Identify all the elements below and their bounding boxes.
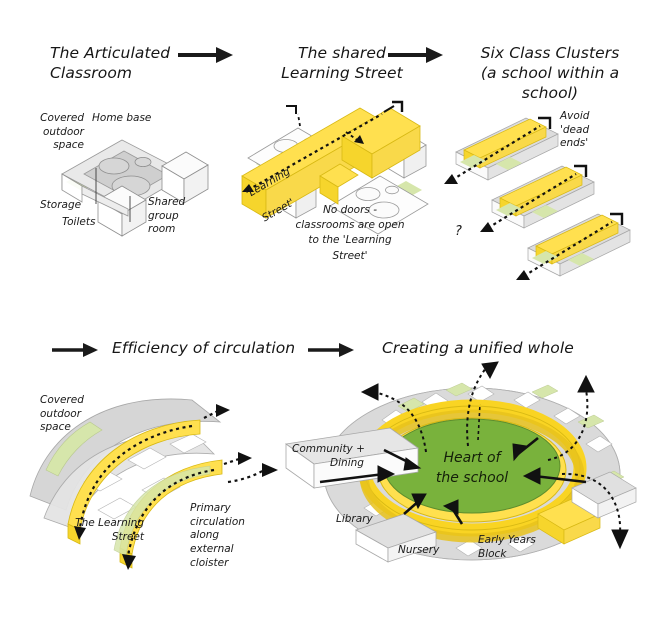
label-question-mark: ? xyxy=(455,224,462,241)
label-line: Community + xyxy=(292,442,402,456)
label-line: ends' xyxy=(560,137,630,151)
caption-line: No doors - xyxy=(276,203,424,218)
label-community-dining: Community + Dining xyxy=(292,442,402,470)
arrow-5-icon xyxy=(308,340,360,360)
label-line: Dining xyxy=(292,456,402,470)
label-line: circulation xyxy=(190,516,270,530)
label-nursery: Nursery xyxy=(398,544,458,558)
caption-no-doors: No doors - classrooms are open to the 'L… xyxy=(276,203,424,264)
arrow-1-2-icon xyxy=(178,44,238,66)
label-line: external xyxy=(190,543,270,557)
label-line: outdoor xyxy=(40,408,116,422)
label-the-learning-street: The Learning Street xyxy=(38,517,144,544)
label-early-years-block: Early Years Block xyxy=(478,534,558,561)
label-line: 'dead xyxy=(560,124,630,138)
panel-5-heading-line-1: Creating a unified whole xyxy=(382,339,632,359)
label-line: Toilets xyxy=(62,216,122,230)
label-line: group xyxy=(148,210,206,224)
heart-text-line-2: the school xyxy=(436,470,508,486)
label-line: Block xyxy=(478,548,558,562)
label-line: Shared xyxy=(148,196,206,210)
panel-3-heading-line-3: school) xyxy=(460,84,640,104)
label-line: Nursery xyxy=(398,544,458,558)
label-line: along xyxy=(190,529,270,543)
label-line: space xyxy=(14,139,84,153)
heart-text-line-1: Heart of xyxy=(444,450,503,466)
caption-line: Street' xyxy=(276,249,424,264)
label-line: cloister xyxy=(190,557,270,571)
label-line: Avoid xyxy=(560,110,630,124)
cluster-bar-1 xyxy=(444,118,558,184)
panel-3-heading-line-2: (a school within a xyxy=(460,64,640,84)
caption-line: to the 'Learning xyxy=(276,233,424,248)
caption-line: classrooms are open xyxy=(276,218,424,233)
label-avoid-dead-ends: Avoid 'dead ends' xyxy=(560,110,630,151)
panel-5-heading: Creating a unified whole xyxy=(382,339,632,359)
label-line: Library xyxy=(336,513,396,527)
label-line: Street xyxy=(38,531,144,545)
panel-1-heading-line-1: The Articulated xyxy=(50,44,190,64)
label-line: Early Years xyxy=(478,534,558,548)
label-line: Home base xyxy=(92,112,172,126)
label-library: Library xyxy=(336,513,396,527)
label-line: room xyxy=(148,223,206,237)
label-shared-group-room: Shared group room xyxy=(148,196,206,237)
label-storage: Storage xyxy=(40,199,100,213)
label-primary-circulation: Primary circulation along external clois… xyxy=(190,502,270,570)
label-line: Covered xyxy=(40,394,116,408)
panel-1-heading: The Articulated Classroom xyxy=(50,44,190,84)
arrow-2-3-icon xyxy=(388,44,448,66)
label-line: The Learning xyxy=(38,517,144,531)
diagram-canvas: The Articulated Classroom Cov xyxy=(0,0,650,625)
arrow-4-icon xyxy=(52,340,104,360)
panel-3-heading-line-1: Six Class Clusters xyxy=(460,44,640,64)
label-line: Primary xyxy=(190,502,270,516)
label-line: Covered xyxy=(14,112,84,126)
label-line: Storage xyxy=(40,199,100,213)
panel-1-heading-line-2: Classroom xyxy=(50,64,190,84)
label-line: ? xyxy=(455,224,462,239)
panel-2-heading-line-2: Learning Street xyxy=(262,64,422,84)
label-home-base: Home base xyxy=(92,112,172,126)
label-covered-outdoor-space-2: Covered outdoor space xyxy=(40,394,116,435)
label-line: space xyxy=(40,421,116,435)
panel-3-heading: Six Class Clusters (a school within a sc… xyxy=(460,44,640,103)
creating-a-unified-whole-model: Heart of the school xyxy=(286,362,650,582)
label-line: outdoor xyxy=(14,126,84,140)
label-covered-outdoor-space-1: Covered outdoor space xyxy=(14,112,84,153)
label-toilets: Toilets xyxy=(62,216,122,230)
